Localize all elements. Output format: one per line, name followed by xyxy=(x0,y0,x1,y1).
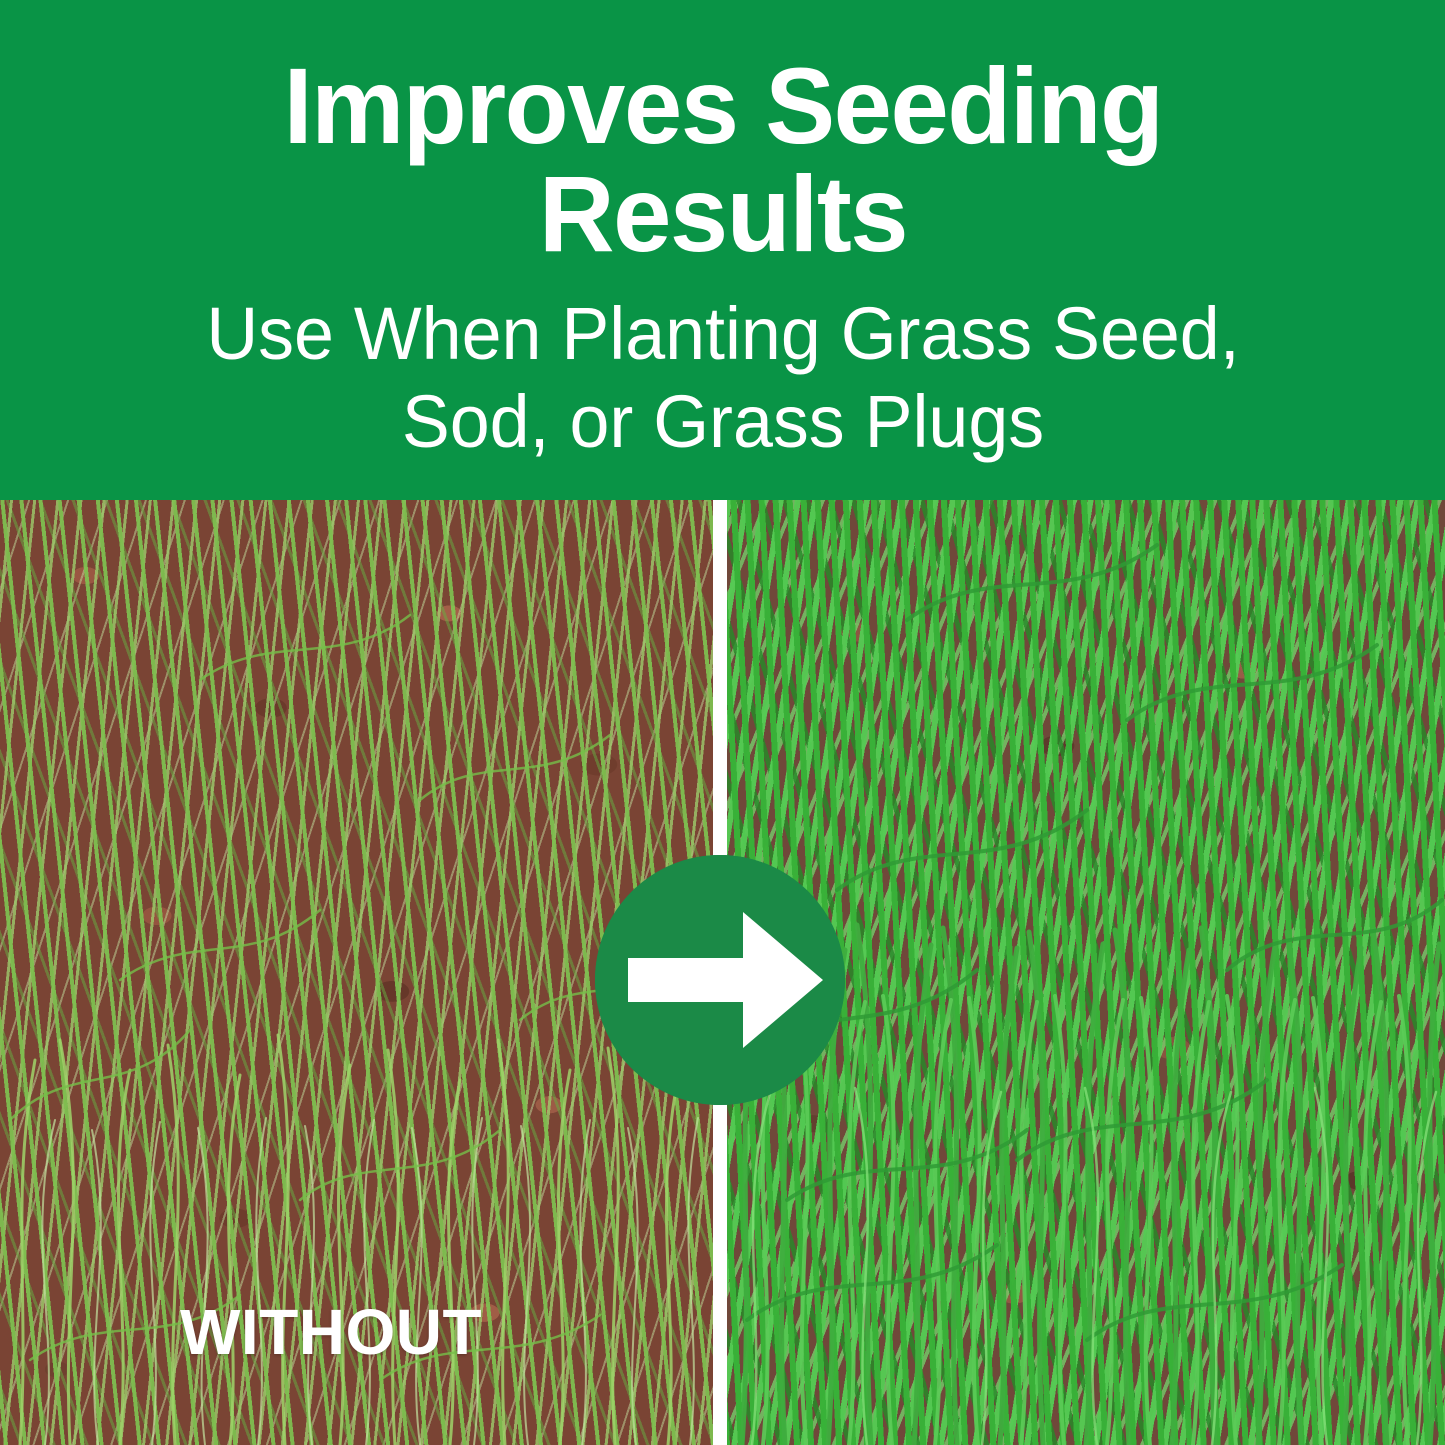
arrow-badge xyxy=(595,855,845,1105)
header-banner: Improves Seeding Results Use When Planti… xyxy=(0,0,1445,500)
before-after-comparison: WITHOUT xyxy=(0,500,1445,1445)
page-title: Improves Seeding Results xyxy=(111,52,1333,268)
label-without: WITHOUT xyxy=(180,1300,482,1364)
headline-line-2: Results xyxy=(111,160,1333,268)
subtitle-line-1: Use When Planting Grass Seed, xyxy=(206,292,1239,375)
page-subtitle: Use When Planting Grass Seed, Sod, or Gr… xyxy=(92,290,1353,466)
subtitle-line-2: Sod, or Grass Plugs xyxy=(92,378,1353,466)
arrow-right-icon xyxy=(595,855,845,1105)
headline-line-1: Improves Seeding xyxy=(283,45,1162,166)
product-feature-image: Improves Seeding Results Use When Planti… xyxy=(0,0,1445,1445)
